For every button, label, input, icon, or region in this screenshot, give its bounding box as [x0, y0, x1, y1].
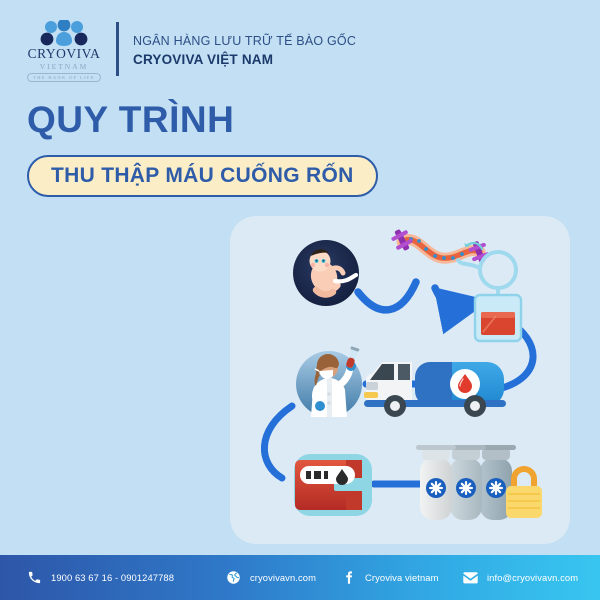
contact-footer: 1900 63 67 16 - 0901247788 cryovivavn.co…	[0, 555, 600, 600]
cryoviva-logo: CRYOVIVA VIETNAM THE BANK OF LIFE	[25, 20, 103, 78]
cord-blood-collection-bag-icon	[458, 252, 521, 341]
globe-icon	[225, 569, 242, 586]
footer-website-text: cryovivavn.com	[250, 572, 316, 583]
email-icon	[462, 569, 479, 586]
cryogenic-storage-tanks-icon	[416, 445, 542, 520]
connector-cord-to-bag	[435, 288, 462, 307]
cord-clamp-left-icon	[389, 226, 415, 254]
footer-website[interactable]: cryovivavn.com	[225, 555, 316, 600]
page-subtitle-text: THU THẬP MÁU CUỐNG RỐN	[51, 165, 354, 186]
logo-wordmark: CRYOVIVA	[28, 47, 101, 61]
connector-lab-to-machine	[264, 406, 292, 478]
header-subtitle: NGÂN HÀNG LƯU TRỮ TẾ BÀO GỐC	[133, 32, 356, 50]
page-header: CRYOVIVA VIETNAM THE BANK OF LIFE NGÂN H…	[0, 0, 600, 92]
blood-transport-truck-icon	[364, 362, 506, 417]
logo-tagline: THE BANK OF LIFE	[27, 73, 101, 82]
footer-phone-text: 1900 63 67 16 - 0901247788	[51, 572, 174, 583]
footer-email[interactable]: info@cryovivavn.com	[462, 555, 578, 600]
facebook-icon	[340, 569, 357, 586]
fetus-umbilical-cord-icon	[293, 240, 359, 306]
header-title: CRYOVIVA VIỆT NAM	[133, 50, 356, 70]
process-flow-diagram	[230, 216, 570, 544]
page-title: QUY TRÌNH	[27, 101, 234, 138]
logo-country: VIETNAM	[40, 63, 89, 71]
blood-processing-machine-icon	[294, 454, 372, 516]
padlock-icon	[506, 469, 542, 518]
umbilical-cord-clamp-icon	[389, 226, 491, 265]
footer-facebook[interactable]: Cryoviva vietnam	[340, 555, 439, 600]
phone-icon	[26, 569, 43, 586]
cryo-tank-1	[416, 445, 456, 520]
page-subtitle-badge: THU THẬP MÁU CUỐNG RỐN	[27, 155, 378, 197]
infographic-page: CRYOVIVA VIETNAM THE BANK OF LIFE NGÂN H…	[0, 0, 600, 600]
footer-phone[interactable]: 1900 63 67 16 - 0901247788	[26, 555, 174, 600]
header-divider	[116, 22, 119, 76]
connector-baby-to-cord	[358, 282, 416, 310]
header-brand-text: NGÂN HÀNG LƯU TRỮ TẾ BÀO GỐC CRYOVIVA VI…	[133, 32, 356, 70]
footer-email-text: info@cryovivavn.com	[487, 572, 578, 583]
lab-technician-testing-icon	[296, 346, 362, 417]
logo-people-dots-icon	[38, 20, 90, 46]
footer-facebook-text: Cryoviva vietnam	[365, 572, 439, 583]
process-flow-panel	[230, 216, 570, 544]
